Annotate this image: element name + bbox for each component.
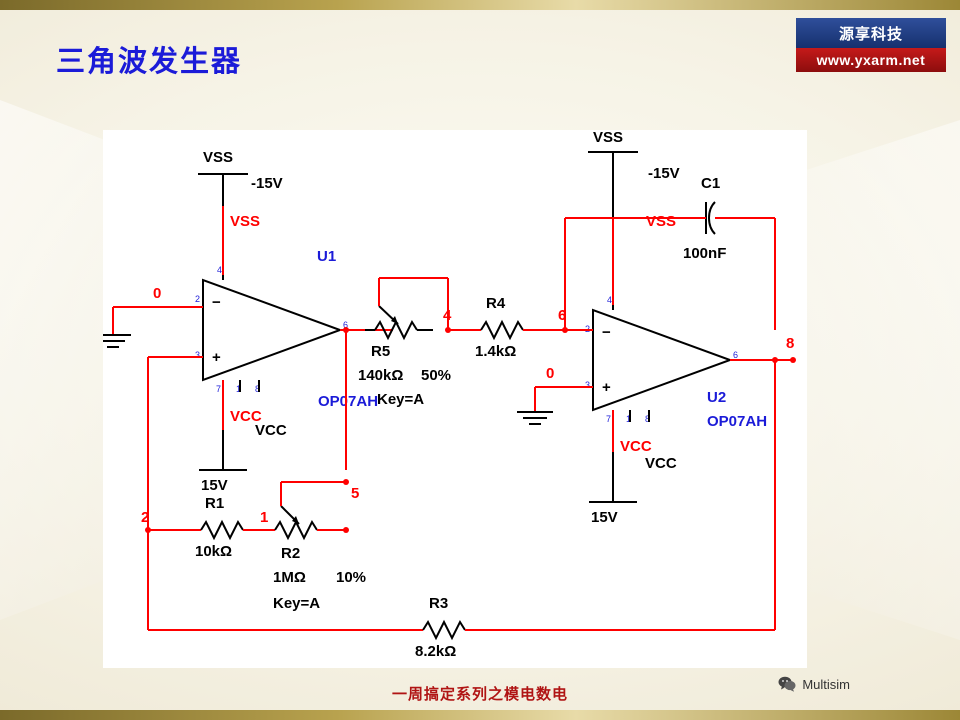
svg-text:−: − — [212, 294, 221, 311]
page-title: 三角波发生器 — [56, 38, 242, 80]
svg-text:-15V: -15V — [251, 175, 283, 192]
brand-name: 源享科技 — [796, 18, 946, 48]
svg-text:+: + — [212, 349, 221, 366]
bottom-gold-bar — [0, 710, 960, 720]
svg-text:1.4kΩ: 1.4kΩ — [475, 343, 516, 360]
svg-text:8.2kΩ: 8.2kΩ — [415, 643, 456, 660]
r2-potentiometer: 5 R2 1MΩ 10% Key=A — [273, 479, 366, 612]
svg-text:8: 8 — [786, 335, 794, 352]
svg-text:−: − — [602, 324, 611, 341]
svg-text:VSS: VSS — [230, 213, 260, 230]
wechat-label: Multisim — [802, 677, 850, 692]
svg-text:7: 7 — [606, 414, 611, 424]
u2-input-ground: 0 — [517, 365, 593, 424]
svg-text:R3: R3 — [429, 595, 448, 612]
svg-text:C1: C1 — [701, 175, 720, 192]
u1-input-ground: 0 — [103, 285, 203, 347]
r4-resistor: R4 1.4kΩ 6 — [448, 295, 566, 360]
u2-output-net: 8 — [730, 335, 796, 630]
svg-text:0: 0 — [153, 285, 161, 302]
svg-text:100nF: 100nF — [683, 245, 726, 262]
svg-text:10kΩ: 10kΩ — [195, 543, 232, 560]
svg-text:+: + — [602, 379, 611, 396]
brand-logo: 源享科技 www.yxarm.net — [796, 18, 946, 74]
svg-text:50%: 50% — [421, 367, 451, 384]
r5-potentiometer: R5 140kΩ 50% Key=A 4 — [358, 278, 452, 408]
svg-text:3: 3 — [585, 380, 590, 390]
svg-text:R4: R4 — [486, 295, 506, 312]
svg-text:OP07AH: OP07AH — [318, 393, 378, 410]
svg-text:R5: R5 — [371, 343, 390, 360]
schematic-canvas: .w{stroke:#ff0000;stroke-width:2;fill:no… — [103, 130, 807, 668]
r3-resistor: R3 8.2kΩ — [148, 530, 775, 660]
svg-text:VSS: VSS — [646, 213, 676, 230]
wechat-badge: Multisim — [778, 676, 850, 692]
svg-text:0: 0 — [546, 365, 554, 382]
svg-text:R1: R1 — [205, 495, 224, 512]
svg-text:5: 5 — [351, 485, 359, 502]
c1-capacitor: C1 100nF — [565, 175, 775, 330]
svg-text:10%: 10% — [336, 569, 366, 586]
wechat-icon — [778, 676, 796, 692]
svg-text:140kΩ: 140kΩ — [358, 367, 403, 384]
u1-noninverting-feedback — [148, 357, 203, 530]
svg-text:VSS: VSS — [593, 130, 623, 146]
u1-vcc-supply: VCC VCC 15V — [199, 380, 287, 494]
u2-opamp-symbol: − + 4 2 3 6 7 1 8 U2 OP07AH — [585, 295, 767, 430]
svg-text:2: 2 — [195, 294, 200, 304]
r1-resistor: 2 R1 10kΩ 1 — [141, 495, 275, 560]
svg-text:1: 1 — [260, 509, 268, 526]
svg-text:7: 7 — [216, 384, 221, 394]
svg-text:15V: 15V — [201, 477, 228, 494]
svg-text:3: 3 — [195, 350, 200, 360]
svg-text:4: 4 — [443, 307, 452, 324]
brand-url: www.yxarm.net — [796, 48, 946, 72]
svg-text:R2: R2 — [281, 545, 300, 562]
svg-text:4: 4 — [607, 295, 612, 305]
u2-vcc-supply: VCC VCC 15V — [589, 410, 677, 526]
svg-text:VSS: VSS — [203, 149, 233, 166]
circuit-schematic: .w{stroke:#ff0000;stroke-width:2;fill:no… — [103, 130, 807, 668]
svg-text:4: 4 — [217, 265, 222, 275]
svg-text:U1: U1 — [317, 248, 336, 265]
top-gold-bar — [0, 0, 960, 10]
svg-text:OP07AH: OP07AH — [707, 413, 767, 430]
svg-text:6: 6 — [733, 350, 738, 360]
svg-text:-15V: -15V — [648, 165, 680, 182]
svg-text:U2: U2 — [707, 389, 726, 406]
svg-text:VCC: VCC — [645, 455, 677, 472]
svg-text:VCC: VCC — [255, 422, 287, 439]
u1-vss-supply: VSS -15V VSS — [198, 149, 283, 275]
svg-text:Key=A: Key=A — [273, 595, 320, 612]
svg-text:Key=A: Key=A — [377, 391, 424, 408]
svg-text:15V: 15V — [591, 509, 618, 526]
svg-text:2: 2 — [141, 509, 149, 526]
svg-text:1MΩ: 1MΩ — [273, 569, 306, 586]
svg-text:VCC: VCC — [620, 438, 652, 455]
